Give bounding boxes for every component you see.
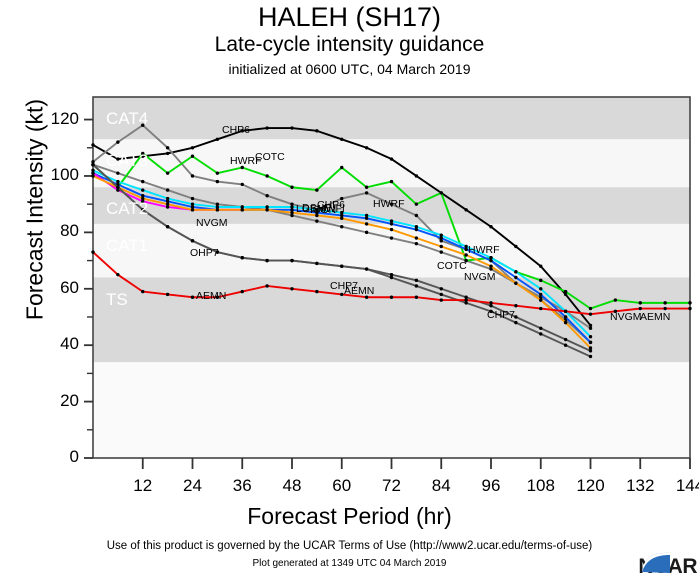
- data-point: [489, 225, 492, 228]
- band-label-cat2: CAT2: [106, 199, 148, 219]
- x-tick-label: 48: [269, 476, 315, 496]
- inline-label-chp7: CHP7: [330, 280, 358, 292]
- x-tick-label: 144: [667, 476, 699, 496]
- inline-label-ohp7: OHP7: [190, 247, 219, 259]
- band-label-cat3: CAT3: [106, 151, 148, 171]
- data-point: [241, 256, 244, 259]
- data-point: [489, 265, 492, 268]
- data-point: [166, 202, 169, 205]
- data-point: [390, 219, 393, 222]
- data-point: [315, 188, 318, 191]
- data-point: [639, 301, 642, 304]
- data-point: [390, 236, 393, 239]
- x-tick-label: 132: [617, 476, 663, 496]
- data-point: [415, 214, 418, 217]
- chart-page: HALEH (SH17) Late-cycle intensity guidan…: [0, 0, 699, 577]
- data-point: [216, 208, 219, 211]
- data-point: [415, 279, 418, 282]
- x-tick-label: 24: [170, 476, 216, 496]
- data-point: [564, 310, 567, 313]
- data-point: [564, 290, 567, 293]
- y-tick-label: 120: [33, 109, 79, 129]
- inline-label-aemn: AEMN: [196, 290, 226, 302]
- data-point: [241, 208, 244, 211]
- data-point: [315, 262, 318, 265]
- data-point: [166, 171, 169, 174]
- inline-label-chp6: CHP6: [222, 124, 250, 136]
- data-point: [290, 186, 293, 189]
- data-point: [290, 211, 293, 214]
- data-point: [141, 188, 144, 191]
- x-tick-label: 120: [568, 476, 614, 496]
- data-point: [589, 349, 592, 352]
- x-tick-label: 108: [518, 476, 564, 496]
- data-point: [440, 298, 443, 301]
- data-point: [589, 312, 592, 315]
- data-point: [290, 205, 293, 208]
- data-point: [290, 259, 293, 262]
- band-cat1: [93, 224, 690, 278]
- data-point: [166, 225, 169, 228]
- data-point: [91, 250, 94, 253]
- data-point: [216, 180, 219, 183]
- data-point: [440, 287, 443, 290]
- data-point: [216, 171, 219, 174]
- data-point: [564, 343, 567, 346]
- data-point: [116, 140, 119, 143]
- data-point: [116, 273, 119, 276]
- data-point: [265, 284, 268, 287]
- data-point: [589, 341, 592, 344]
- data-point: [191, 197, 194, 200]
- data-point: [539, 307, 542, 310]
- data-point: [290, 287, 293, 290]
- data-point: [91, 163, 94, 166]
- data-point: [390, 276, 393, 279]
- data-point: [688, 301, 691, 304]
- data-point: [489, 256, 492, 259]
- data-point: [191, 239, 194, 242]
- x-tick-label: 84: [418, 476, 464, 496]
- data-point: [191, 174, 194, 177]
- data-point: [440, 293, 443, 296]
- data-point: [415, 236, 418, 239]
- data-point: [191, 202, 194, 205]
- data-point: [315, 290, 318, 293]
- data-point: [191, 155, 194, 158]
- x-tick-label: 60: [319, 476, 365, 496]
- data-point: [91, 143, 94, 146]
- ncar-logo: NCAR: [641, 551, 697, 577]
- data-point: [663, 301, 666, 304]
- data-point: [688, 307, 691, 310]
- band-label-cat4: CAT4: [106, 109, 148, 129]
- data-point: [415, 242, 418, 245]
- data-point: [265, 194, 268, 197]
- data-point: [415, 174, 418, 177]
- data-point: [265, 259, 268, 262]
- data-point: [340, 138, 343, 141]
- data-point: [390, 228, 393, 231]
- inline-label-nvgm: NVGM: [610, 311, 642, 323]
- data-point: [290, 126, 293, 129]
- data-point: [464, 208, 467, 211]
- band-cat4: [93, 97, 690, 139]
- data-point: [241, 290, 244, 293]
- inline-label-cotc: COTC: [255, 151, 285, 163]
- data-point: [539, 332, 542, 335]
- data-point: [191, 208, 194, 211]
- x-tick-label: 72: [369, 476, 415, 496]
- data-point: [265, 208, 268, 211]
- inline-label-nvgm: NVGM: [464, 271, 496, 283]
- data-point: [639, 307, 642, 310]
- data-point: [390, 296, 393, 299]
- data-point: [141, 180, 144, 183]
- inline-label-nvgm: NVGM: [196, 217, 228, 229]
- x-tick-label: 96: [468, 476, 514, 496]
- data-point: [539, 327, 542, 330]
- data-point: [365, 191, 368, 194]
- inline-label-aemn: AEMN: [640, 311, 670, 323]
- y-tick-label: 20: [33, 391, 79, 411]
- data-point: [390, 157, 393, 160]
- data-point: [589, 355, 592, 358]
- data-point: [564, 321, 567, 324]
- band-label-ts: TS: [106, 290, 128, 310]
- data-point: [166, 146, 169, 149]
- data-point: [539, 279, 542, 282]
- data-point: [216, 138, 219, 141]
- data-point: [514, 245, 517, 248]
- data-point: [315, 219, 318, 222]
- data-point: [365, 146, 368, 149]
- data-point: [589, 335, 592, 338]
- inline-label-chp7: CHP7: [487, 309, 515, 321]
- data-point: [365, 222, 368, 225]
- data-point: [166, 293, 169, 296]
- inline-label-hwfi: HWFI: [318, 203, 345, 215]
- data-point: [340, 166, 343, 169]
- y-tick-label: 60: [33, 278, 79, 298]
- data-point: [440, 250, 443, 253]
- data-point: [365, 231, 368, 234]
- data-point: [141, 290, 144, 293]
- y-tick-label: 40: [33, 334, 79, 354]
- data-point: [589, 307, 592, 310]
- x-tick-label: 12: [120, 476, 166, 496]
- y-tick-label: 100: [33, 165, 79, 185]
- band-ts: [93, 278, 690, 363]
- data-point: [365, 267, 368, 270]
- data-point: [514, 281, 517, 284]
- data-point: [315, 129, 318, 132]
- data-point: [539, 265, 542, 268]
- data-point: [191, 146, 194, 149]
- data-point: [166, 188, 169, 191]
- data-point: [415, 284, 418, 287]
- data-point: [166, 152, 169, 155]
- data-point: [365, 186, 368, 189]
- inline-label-hwrf: HWRF: [468, 244, 500, 256]
- data-point: [340, 265, 343, 268]
- inline-label-hwrf: HWRF: [373, 198, 405, 210]
- data-point: [514, 304, 517, 307]
- band-label-cat1: CAT1: [106, 236, 148, 256]
- data-point: [663, 307, 666, 310]
- data-point: [365, 214, 368, 217]
- data-point: [589, 327, 592, 330]
- data-point: [514, 321, 517, 324]
- data-point: [440, 233, 443, 236]
- data-point: [464, 298, 467, 301]
- terms-of-use-text: Use of this product is governed by the U…: [0, 540, 699, 552]
- data-point: [415, 296, 418, 299]
- data-point: [614, 298, 617, 301]
- y-tick-label: 0: [33, 447, 79, 467]
- data-point: [191, 296, 194, 299]
- data-point: [514, 276, 517, 279]
- data-point: [514, 270, 517, 273]
- x-tick-label: 36: [219, 476, 265, 496]
- data-point: [166, 197, 169, 200]
- data-point: [340, 217, 343, 220]
- plot-generated-text: Plot generated at 1349 UTC 04 March 2019: [0, 558, 699, 569]
- data-point: [539, 287, 542, 290]
- data-point: [340, 225, 343, 228]
- data-point: [564, 338, 567, 341]
- data-point: [489, 301, 492, 304]
- data-point: [116, 171, 119, 174]
- y-tick-label: 80: [33, 221, 79, 241]
- data-point: [415, 202, 418, 205]
- data-point: [390, 180, 393, 183]
- data-point: [116, 180, 119, 183]
- inline-label-cotc: COTC: [437, 260, 467, 272]
- data-point: [440, 191, 443, 194]
- data-point: [440, 245, 443, 248]
- data-point: [241, 183, 244, 186]
- data-point: [415, 225, 418, 228]
- data-point: [539, 298, 542, 301]
- data-point: [116, 186, 119, 189]
- data-point: [340, 293, 343, 296]
- data-point: [265, 174, 268, 177]
- data-point: [91, 174, 94, 177]
- data-point: [539, 293, 542, 296]
- ncar-swoosh-icon: [641, 551, 671, 575]
- data-point: [265, 126, 268, 129]
- data-point: [564, 315, 567, 318]
